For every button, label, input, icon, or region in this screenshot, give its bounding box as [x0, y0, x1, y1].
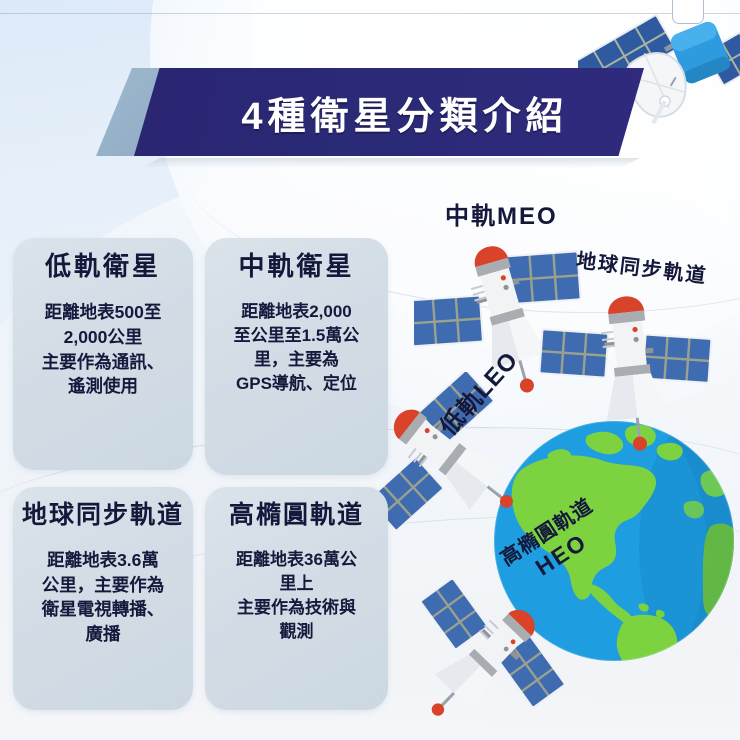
card-title: 高橢圓軌道: [229, 501, 364, 530]
card-body: 距離地表2,000 至公里至1.5萬公 里，主要為 GPS導航、定位: [226, 300, 368, 397]
title-banner: 4種衛星分類介紹: [96, 62, 656, 162]
banner-drop-shadow: [140, 158, 640, 168]
card-body: 距離地表36萬公 里上 主要作為技術與 觀測: [228, 548, 365, 645]
info-card-low-earth-orbit[interactable]: 低軌衛星 距離地表500至 2,000公里 主要作為通訊、 遙測使用: [13, 238, 193, 470]
info-card-highly-elliptical-orbit[interactable]: 高橢圓軌道 距離地表36萬公 里上 主要作為技術與 觀測: [205, 487, 388, 710]
info-card-geostationary-orbit[interactable]: 地球同步軌道 距離地表3.6萬 公里，主要作為 衛星電視轉播、 廣播: [13, 487, 193, 710]
card-title: 中軌衛星: [238, 252, 354, 282]
card-title: 地球同步軌道: [22, 501, 184, 530]
satellite-heo-icon: [396, 580, 566, 740]
card-body: 距離地表500至 2,000公里 主要作為通訊、 遙測使用: [34, 300, 173, 399]
banner-body: 4種衛星分類介紹: [134, 68, 644, 156]
infographic-canvas: 4種衛星分類介紹 中軌MEO 地球同步軌道 低軌LEO 高橢圓軌道 HEO 低軌…: [0, 0, 740, 740]
satellite-geo-icon: [538, 282, 728, 472]
card-title: 低軌衛星: [45, 252, 161, 282]
orbit-label-meo: 中軌MEO: [445, 196, 558, 231]
info-card-medium-earth-orbit[interactable]: 中軌衛星 距離地表2,000 至公里至1.5萬公 里，主要為 GPS導航、定位: [205, 238, 388, 475]
page-title: 4種衛星分類介紹: [241, 85, 568, 140]
card-body: 距離地表3.6萬 公里，主要作為 衛星電視轉播、 廣播: [34, 548, 173, 647]
